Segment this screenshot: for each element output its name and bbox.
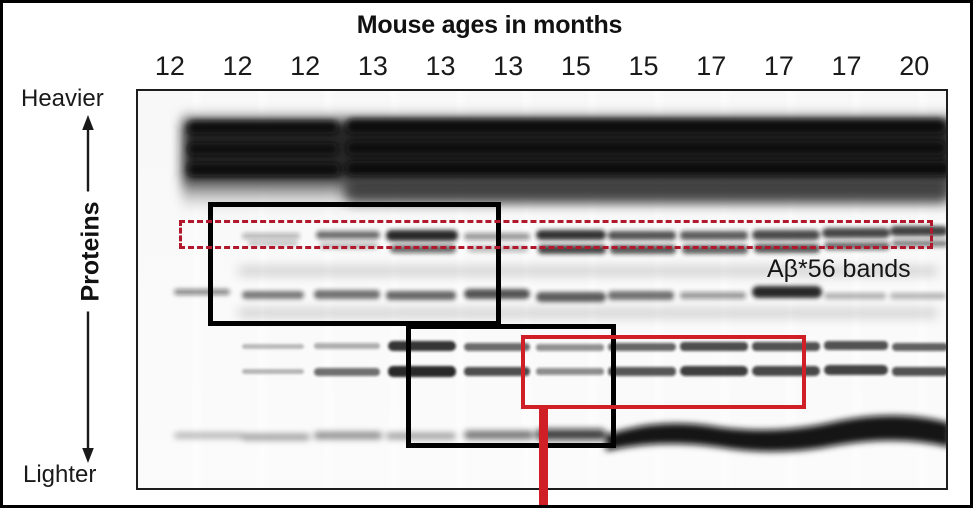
lane-age-label: 17 <box>677 51 745 85</box>
lane-age-label: 17 <box>813 51 881 85</box>
lane-age-label: 15 <box>542 51 610 85</box>
lane-age-label: 12 <box>204 51 272 85</box>
western-blot-figure: Mouse ages in months 12 12 12 13 13 13 1… <box>0 0 973 508</box>
figure-title: Mouse ages in months <box>3 11 973 40</box>
annotation-red-pointer-line <box>539 405 548 508</box>
annotation-red-dashed-box-ab56 <box>179 220 933 249</box>
ab56-bands-label: Aβ*56 bands <box>767 255 911 284</box>
axis-label-lighter: Lighter <box>23 461 96 489</box>
lane-age-label: 13 <box>339 51 407 85</box>
lane-age-label: 17 <box>745 51 813 85</box>
lane-age-label: 15 <box>610 51 678 85</box>
axis-title-proteins: Proteins <box>73 192 110 312</box>
annotation-red-box-lower-bands <box>521 335 806 409</box>
lane-age-labels: 12 12 12 13 13 13 15 15 17 17 17 20 <box>136 51 948 85</box>
axis-label-heavier: Heavier <box>21 85 104 113</box>
lane-age-label: 12 <box>271 51 339 85</box>
lane-age-label: 13 <box>474 51 542 85</box>
lane-age-label: 12 <box>136 51 204 85</box>
lane-age-label: 13 <box>407 51 475 85</box>
lane-age-label: 20 <box>880 51 948 85</box>
